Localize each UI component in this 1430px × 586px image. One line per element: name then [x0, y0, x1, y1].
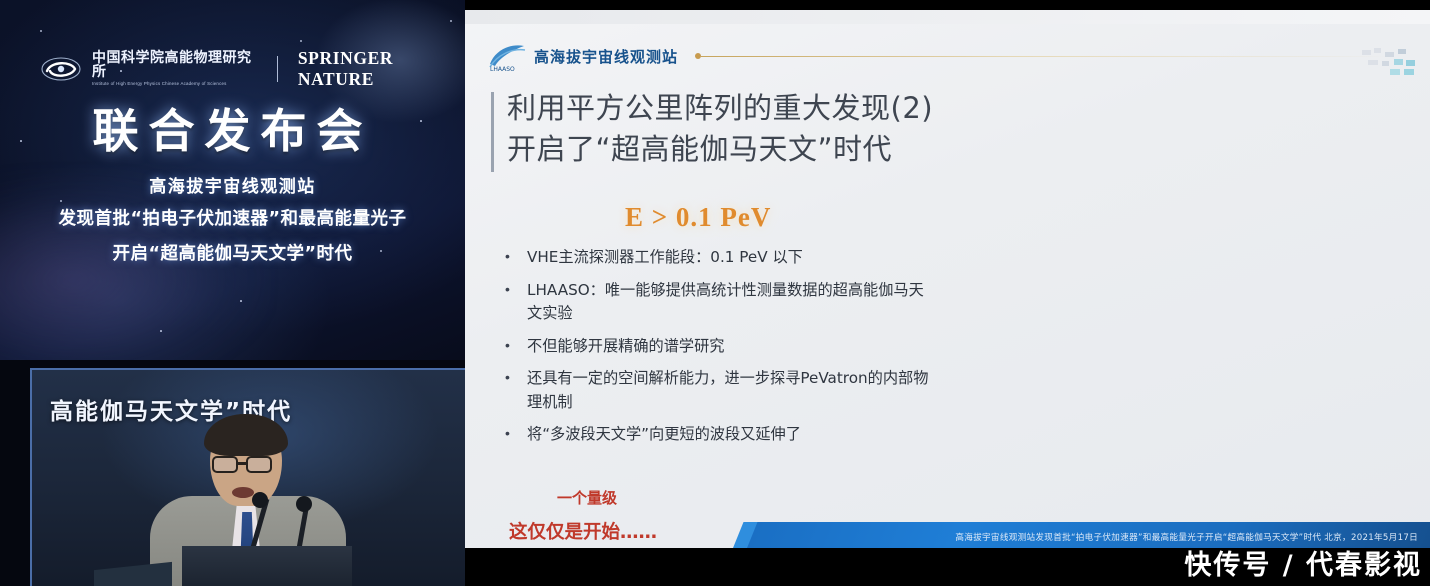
list-item: • LHAASO：唯一能够提供高统计性测量数据的超高能伽马天文实验 [505, 279, 935, 326]
ihep-name-en: Institute of High Energy Physics Chinese… [92, 82, 257, 86]
bullet-marker-icon: • [505, 279, 513, 326]
slide-top-strip [465, 10, 1430, 24]
slide-title: 利用平方公里阵列的重大发现(2) 开启了“超高能伽马天文”时代 [507, 88, 1027, 170]
title-accent-bar [491, 92, 494, 172]
logo-divider [277, 56, 278, 82]
slide-title-line-2: 开启了“超高能伽马天文”时代 [507, 129, 1027, 170]
podium [182, 546, 352, 586]
ihep-logo-text: 中国科学院高能物理研究所 Institute of High Energy Ph… [92, 51, 257, 86]
event-poster: 中国科学院高能物理研究所 Institute of High Energy Ph… [0, 0, 465, 360]
star-speck [450, 20, 452, 22]
microphone-head-icon [252, 492, 268, 508]
bullet-text: VHE主流探测器工作能段：0.1 PeV 以下 [527, 246, 803, 270]
nebula-decoration [0, 170, 270, 360]
lhaaso-logo-icon: LHAASO [487, 40, 527, 72]
red-conclusion: 这仅仅是开始…… [509, 518, 657, 544]
bullet-marker-icon: • [505, 335, 513, 359]
bullet-marker-icon: • [505, 367, 513, 414]
star-speck [40, 30, 42, 32]
bullet-text: 不但能够开展精确的谱学研究 [527, 335, 724, 359]
video-watermark: 快传号 / 代春影视 [1184, 543, 1422, 582]
slide-footer-text: 高海拔宇宙线观测站发现首批“拍电子伏加速器”和最高能量光子开启“超高能伽马天文学… [955, 531, 1418, 543]
microphone-head-icon [296, 496, 312, 512]
poster-main-title: 联合发布会 [0, 95, 465, 161]
star-speck [60, 200, 62, 202]
bullet-text: 还具有一定的空间解析能力，进一步探寻PeVatron的内部物理机制 [527, 367, 935, 414]
sponsor-logo-row: 中国科学院高能物理研究所 Institute of High Energy Ph… [40, 48, 465, 90]
speaker-glasses-right [246, 456, 272, 473]
poster-subtitle-1: 高海拔宇宙线观测站 [0, 172, 465, 197]
bullet-text: LHAASO：唯一能够提供高统计性测量数据的超高能伽马天文实验 [527, 279, 935, 326]
list-item: • 不但能够开展精确的谱学研究 [505, 335, 935, 359]
presentation-slide: LHAASO 高海拔宇宙线观测站 利用平方公里阵列的重大发现(2) 开启了“超高… [465, 10, 1430, 548]
slide-org-logo: LHAASO 高海拔宇宙线观测站 [487, 40, 678, 72]
list-item: • VHE主流探测器工作能段：0.1 PeV 以下 [505, 246, 935, 270]
lhaaso-org-name: 高海拔宇宙线观测站 [534, 46, 678, 67]
header-accent-line [701, 56, 1391, 57]
screenshot-stage: 中国科学院高能物理研究所 Institute of High Energy Ph… [0, 0, 1430, 586]
ihep-spiral-icon [40, 54, 82, 84]
left-panel: 中国科学院高能物理研究所 Institute of High Energy Ph… [0, 0, 465, 586]
red-note: 一个量级 [557, 487, 617, 508]
slide-title-line-1: 利用平方公里阵列的重大发现(2) [507, 88, 1027, 129]
speaker-video-frame: 高能伽马天文学”时代 [30, 368, 465, 586]
poster-subtitle-3: 开启“超高能伽马天文学”时代 [0, 240, 465, 265]
list-item: • 将“多波段天文学”向更短的波段又延伸了 [505, 423, 935, 447]
bullet-text: 将“多波段天文学”向更短的波段又延伸了 [527, 423, 801, 447]
ihep-name-cn: 中国科学院高能物理研究所 [92, 51, 257, 79]
bullet-marker-icon: • [505, 246, 513, 270]
star-speck [240, 300, 242, 302]
speaker-mouth [232, 487, 254, 498]
bullet-marker-icon: • [505, 423, 513, 447]
energy-headline: E > 0.1 PeV [625, 202, 771, 233]
list-item: • 还具有一定的空间解析能力，进一步探寻PeVatron的内部物理机制 [505, 367, 935, 414]
star-speck [160, 330, 162, 332]
corner-decoration-icon [1360, 44, 1422, 80]
speaker-glasses-bridge [238, 462, 247, 465]
svg-text:LHAASO: LHAASO [490, 66, 515, 72]
springer-nature-logo: SPRINGER NATURE [298, 48, 465, 90]
speaker-glasses-left [212, 456, 238, 473]
bullet-list: • VHE主流探测器工作能段：0.1 PeV 以下 • LHAASO：唯一能够提… [505, 246, 935, 456]
poster-subtitle-2: 发现首批“拍电子伏加速器”和最高能量光子 [0, 205, 465, 230]
star-speck [300, 40, 302, 42]
